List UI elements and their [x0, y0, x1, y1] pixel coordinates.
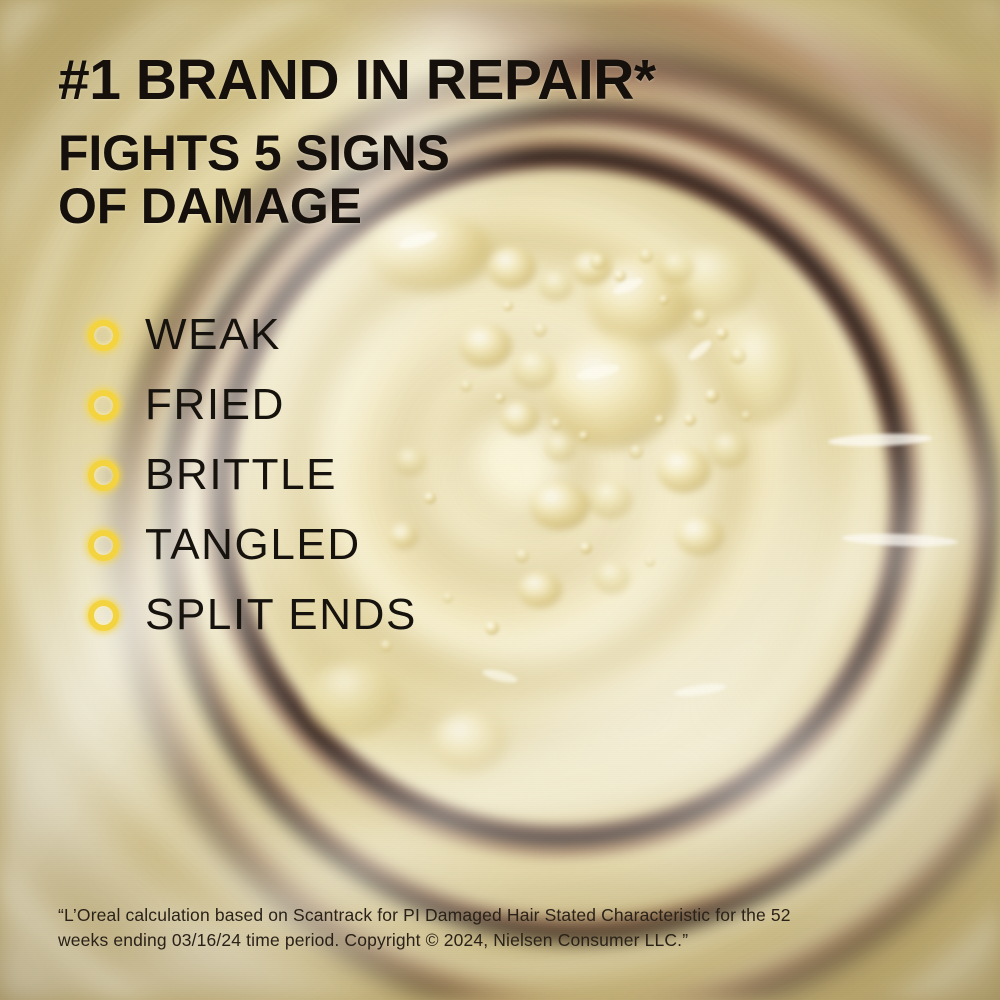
footnote-disclaimer: “L’Oreal calculation based on Scantrack …: [58, 903, 948, 954]
footnote-line-2: weeks ending 03/16/24 time period. Copyr…: [58, 928, 948, 953]
headline-block: #1 BRAND IN REPAIR* FIGHTS 5 SIGNS OF DA…: [58, 52, 656, 233]
sign-label: FRIED: [145, 383, 285, 427]
damage-signs-list: WEAK FRIED BRITTLE TANGLED SPLIT ENDS: [88, 300, 417, 650]
ring-bullet-icon: [88, 320, 119, 351]
sign-label: TANGLED: [145, 523, 361, 567]
list-item: SPLIT ENDS: [88, 580, 417, 650]
list-item: WEAK: [88, 300, 417, 370]
sign-label: BRITTLE: [145, 453, 337, 497]
list-item: FRIED: [88, 370, 417, 440]
ring-bullet-icon: [88, 390, 119, 421]
sign-label: WEAK: [145, 313, 281, 357]
footnote-line-1: “L’Oreal calculation based on Scantrack …: [58, 903, 948, 928]
ad-content: #1 BRAND IN REPAIR* FIGHTS 5 SIGNS OF DA…: [0, 0, 1000, 1000]
headline-secondary-line-1: FIGHTS 5 SIGNS: [58, 127, 656, 180]
ring-bullet-icon: [88, 460, 119, 491]
sign-label: SPLIT ENDS: [145, 593, 417, 637]
headline-secondary: FIGHTS 5 SIGNS OF DAMAGE: [58, 127, 656, 233]
list-item: BRITTLE: [88, 440, 417, 510]
advertisement-canvas: #1 BRAND IN REPAIR* FIGHTS 5 SIGNS OF DA…: [0, 0, 1000, 1000]
list-item: TANGLED: [88, 510, 417, 580]
ring-bullet-icon: [88, 530, 119, 561]
ring-bullet-icon: [88, 600, 119, 631]
headline-secondary-line-2: OF DAMAGE: [58, 180, 656, 233]
headline-primary: #1 BRAND IN REPAIR*: [58, 52, 656, 109]
